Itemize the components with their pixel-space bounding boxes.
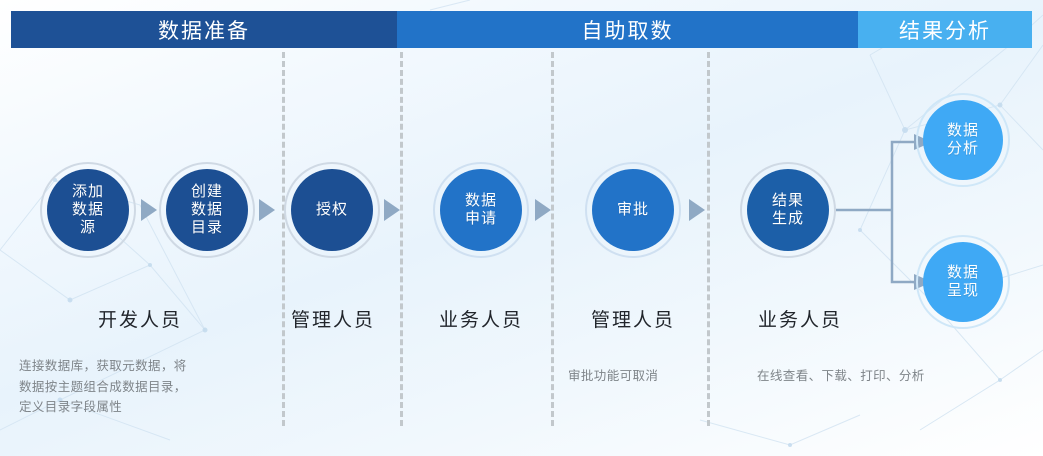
description-result-analysis: 在线查看、下载、打印、分析 — [757, 366, 1007, 387]
flowchart-canvas: 数据准备 自助取数 结果分析 添加 数据 源 创建 数据 目录 授权 数据 申请… — [0, 0, 1043, 456]
description-approval: 审批功能可取消 — [568, 366, 708, 387]
role-label-developer: 开发人员 — [98, 305, 182, 332]
arrow-add-to-create — [141, 199, 157, 221]
node-create-catalog-label: 创建 数据 目录 — [191, 183, 223, 236]
phase-header-label: 结果分析 — [899, 15, 991, 45]
role-label-administrator-1: 管理人员 — [291, 305, 375, 332]
node-data-analysis[interactable]: 数据 分析 — [923, 100, 1003, 180]
node-data-analysis-label: 数据 分析 — [947, 122, 979, 157]
arrow-approval-to-result — [689, 199, 705, 221]
phase-header-label: 自助取数 — [582, 15, 674, 45]
lane-divider-1 — [282, 52, 287, 426]
phase-header-self-service-query: 自助取数 — [397, 11, 858, 48]
phase-header-data-preparation: 数据准备 — [11, 11, 397, 48]
role-label-business-1: 业务人员 — [439, 305, 523, 332]
description-data-preparation: 连接数据库，获取元数据，将 数据按主题组合成数据目录， 定义目录字段属性 — [19, 356, 274, 418]
lane-divider-2 — [400, 52, 405, 426]
arrow-authorize-to-request — [384, 199, 400, 221]
role-label-business-2: 业务人员 — [758, 305, 842, 332]
node-create-catalog[interactable]: 创建 数据 目录 — [166, 169, 248, 251]
node-authorize[interactable]: 授权 — [291, 169, 373, 251]
node-approval-label: 审批 — [617, 201, 649, 219]
node-result-generate-label: 结果 生成 — [772, 192, 804, 227]
node-data-request[interactable]: 数据 申请 — [440, 169, 522, 251]
node-result-generate[interactable]: 结果 生成 — [747, 169, 829, 251]
arrow-request-to-approval — [535, 199, 551, 221]
node-approval[interactable]: 审批 — [592, 169, 674, 251]
role-label-administrator-2: 管理人员 — [591, 305, 675, 332]
lane-divider-3 — [551, 52, 556, 426]
phase-header-result-analysis: 结果分析 — [858, 11, 1032, 48]
arrow-create-to-authorize — [259, 199, 275, 221]
node-data-request-label: 数据 申请 — [465, 192, 497, 227]
node-data-present-label: 数据 呈现 — [947, 264, 979, 299]
node-authorize-label: 授权 — [316, 201, 348, 219]
node-data-present[interactable]: 数据 呈现 — [923, 242, 1003, 322]
phase-header-label: 数据准备 — [158, 15, 250, 45]
node-add-datasource[interactable]: 添加 数据 源 — [47, 169, 129, 251]
node-add-datasource-label: 添加 数据 源 — [72, 183, 104, 236]
